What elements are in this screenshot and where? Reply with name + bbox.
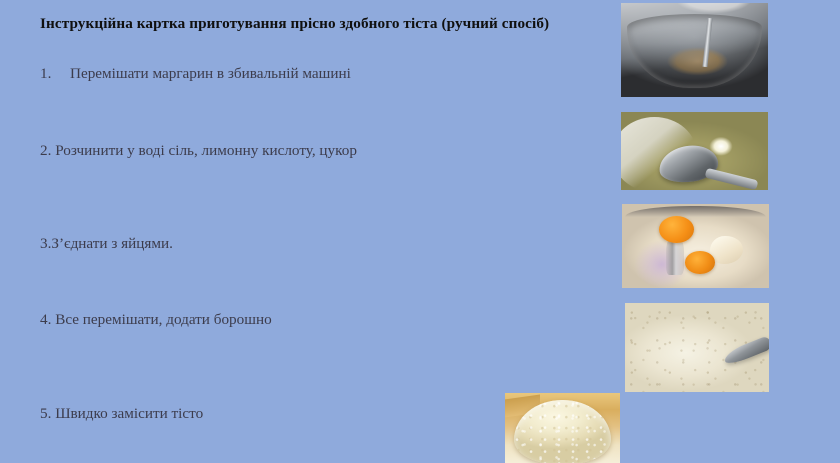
spoon-dissolving-ingredients-in-water-photo [621,112,768,190]
step-number-4: 4. [40,311,51,329]
step-text-1: Перемішати маргарин в збивальній машині [70,65,351,82]
instruction-step-1: 1.Перемішати маргарин в збивальній машин… [40,65,351,83]
kneaded-dough-ball-photo [505,393,620,463]
eggs-added-to-mixture-photo [622,204,769,288]
step-text-3: З’єднати з яйцями. [51,235,173,252]
photo-3-egg-yolk-upper [659,216,694,243]
instruction-step-4: 4. Все перемішати, додати борошно [40,311,272,329]
step-text-5: Швидко замісити тісто [55,405,203,422]
instruction-step-3: 3.З’єднати з яйцями. [40,235,173,253]
step-number-3: 3. [40,235,51,253]
step-number-2: 2. [40,142,51,160]
instruction-step-5: 5. Швидко замісити тісто [40,405,203,423]
margarine-in-mixer-bowl-photo [621,3,768,97]
photo-3-egg-yolk-lower [685,251,714,274]
instruction-step-2: 2. Розчинити у воді сіль, лимонну кислот… [40,142,357,160]
step-text-2: Розчинити у воді сіль, лимонну кислоту, … [55,142,357,159]
step-text-4: Все перемішати, додати борошно [55,311,271,328]
presentation-slide: Інструкційна картка приготування прісно … [0,0,840,463]
step-number-1: 1. [40,65,70,83]
step-number-5: 5. [40,405,51,423]
page-title: Інструкційна картка приготування прісно … [40,14,610,33]
flour-mixed-into-batter-photo [625,303,769,392]
